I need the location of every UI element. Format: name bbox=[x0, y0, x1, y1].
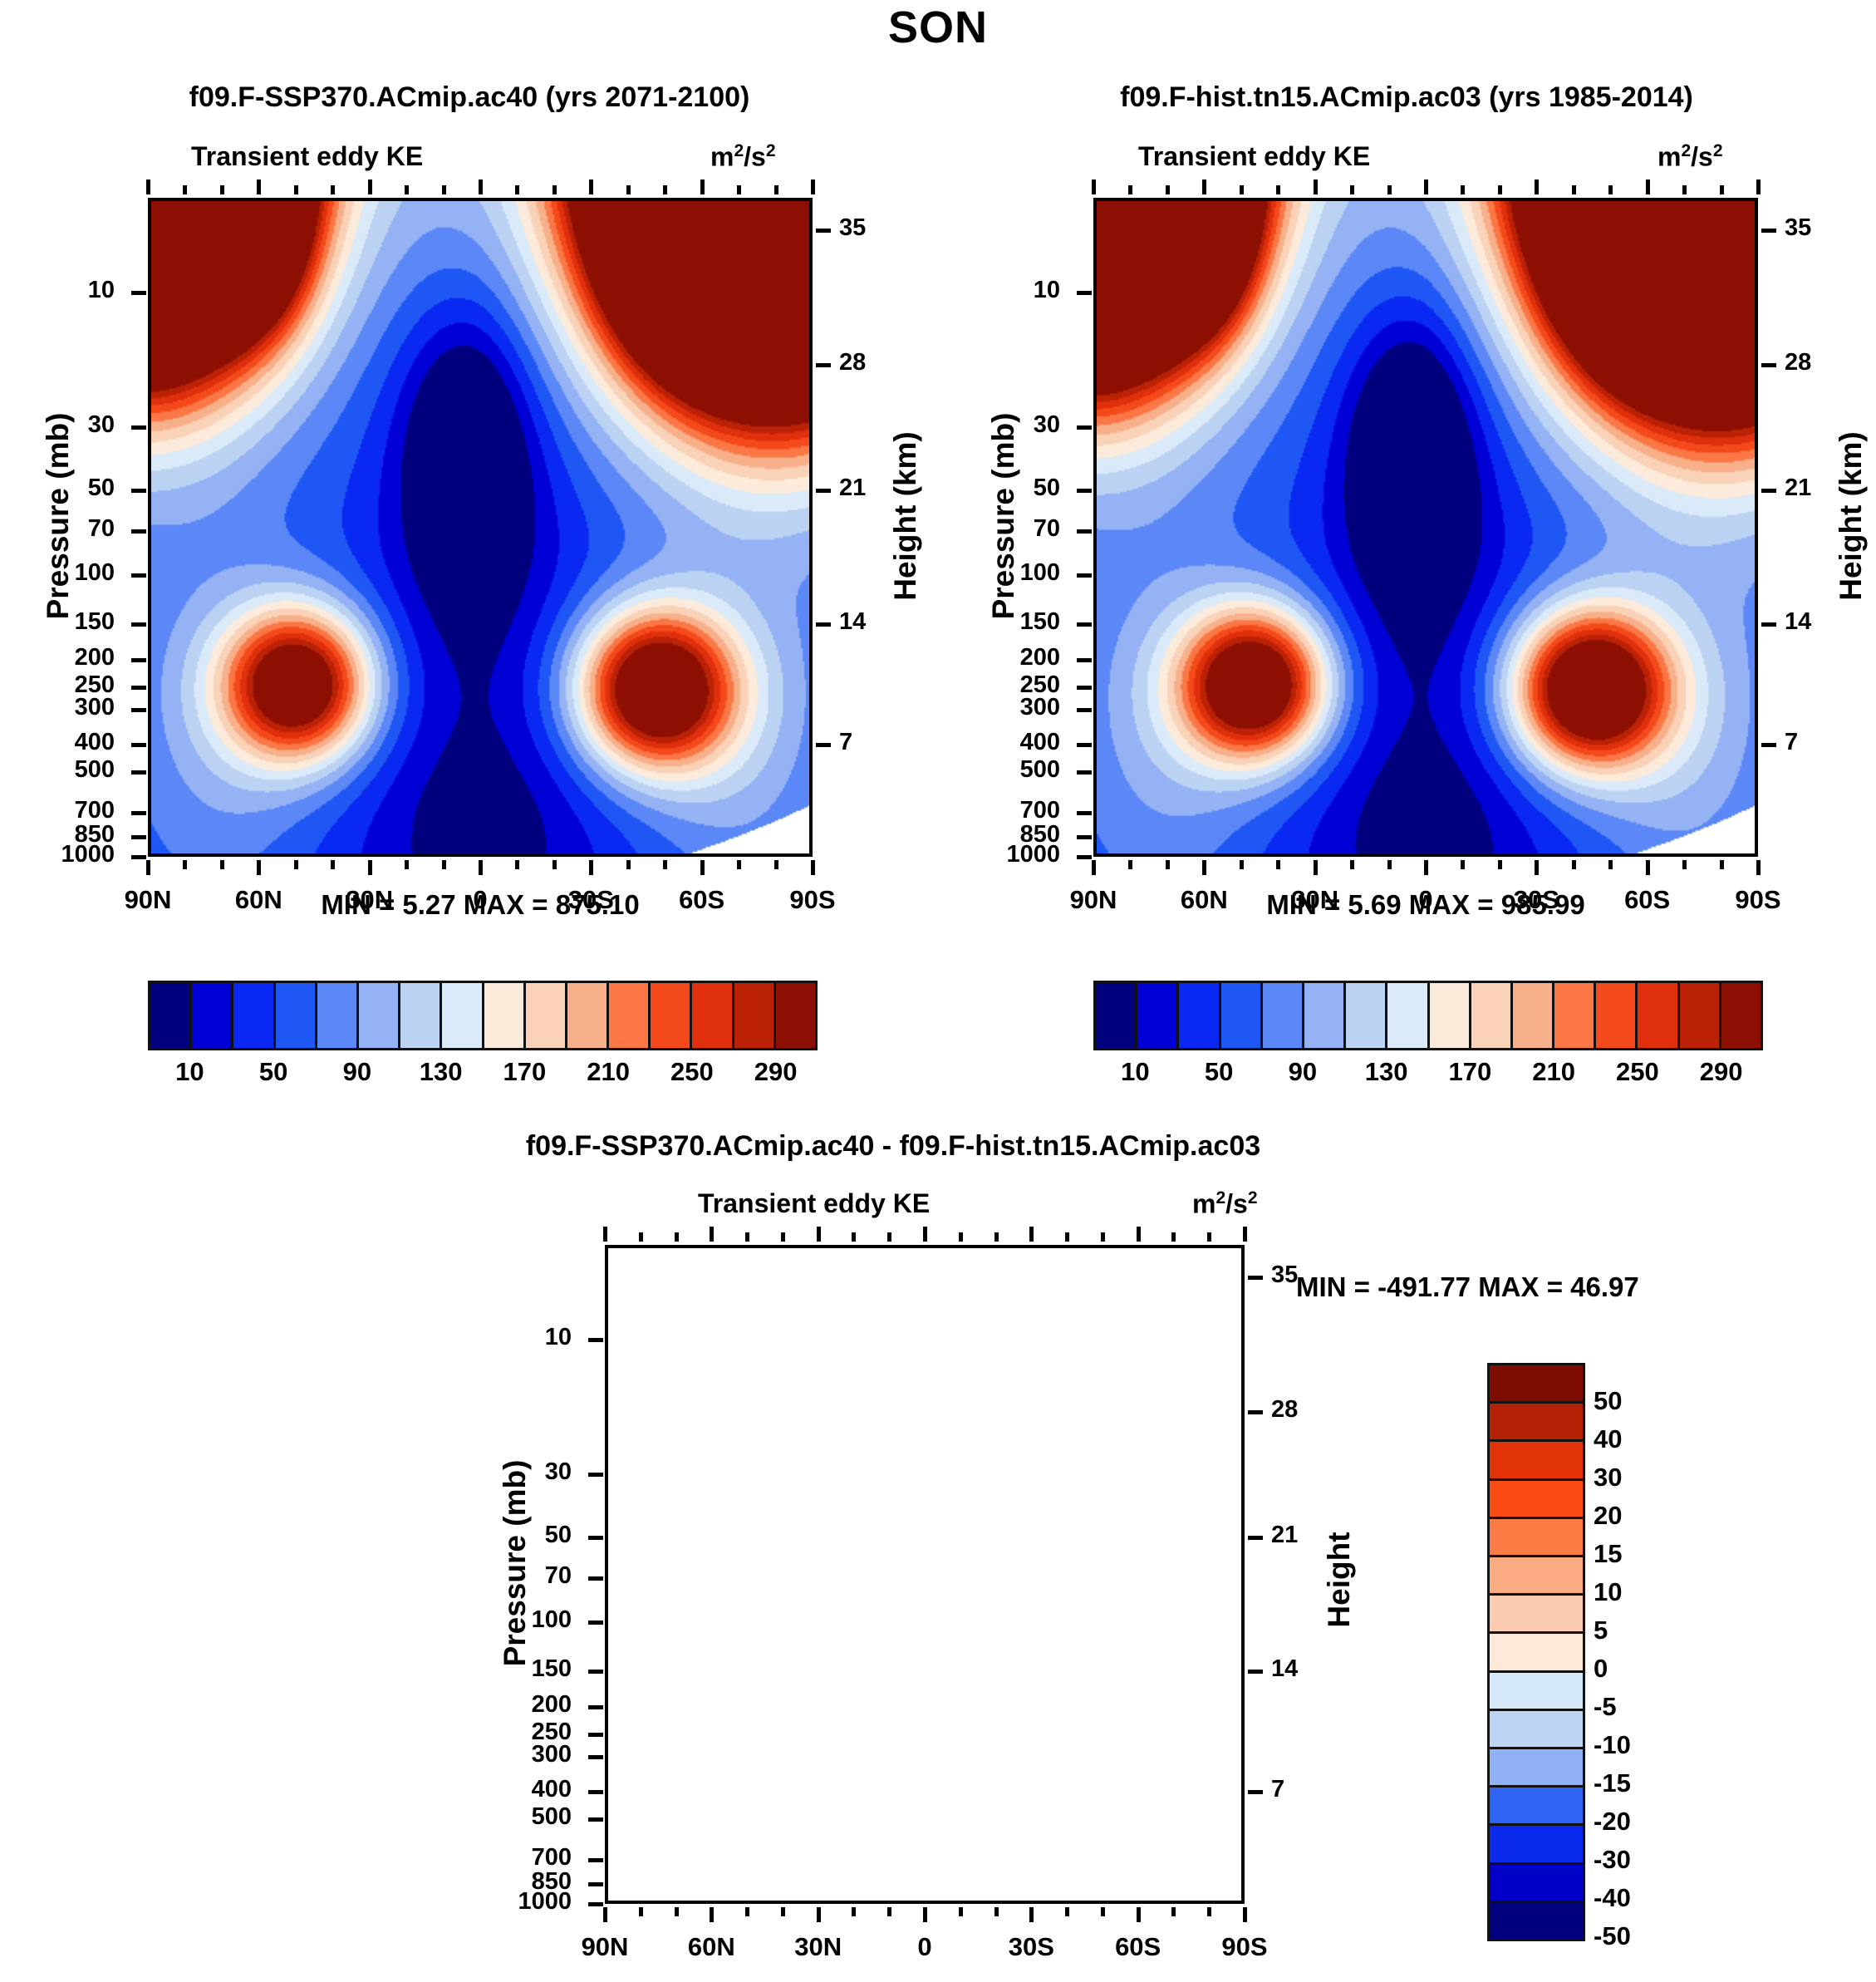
diff-xtick bbox=[1137, 1907, 1141, 1922]
colorbar-cell bbox=[526, 983, 567, 1048]
right-xlabel: 30N bbox=[1257, 885, 1373, 915]
left-xtick bbox=[700, 860, 705, 875]
colorbar-cell bbox=[192, 983, 233, 1048]
right-y2label: 14 bbox=[1785, 608, 1851, 636]
right-xtick-top-minor bbox=[1608, 185, 1613, 194]
diff-xtick-minor bbox=[994, 1907, 999, 1916]
left-xtick-top-minor bbox=[737, 185, 741, 194]
diff-xtick-minor bbox=[1207, 1907, 1211, 1916]
right-xtick-minor bbox=[1720, 860, 1724, 869]
right-xtick-minor bbox=[1240, 860, 1244, 869]
diff-xtick-minor bbox=[887, 1907, 891, 1916]
right-xtick-top-minor bbox=[1350, 185, 1354, 194]
diff-y2label: 7 bbox=[1271, 1776, 1338, 1803]
colorbar-cell bbox=[1638, 983, 1679, 1048]
colorbar-cell bbox=[1490, 1596, 1583, 1634]
right-y2label: 21 bbox=[1785, 475, 1851, 502]
diff-ytick bbox=[588, 1882, 603, 1886]
right-ylabel: 30 bbox=[960, 411, 1060, 439]
right-xtick-top-minor bbox=[1461, 185, 1465, 194]
right-xtick-minor bbox=[1276, 860, 1280, 869]
diff-xtick bbox=[710, 1907, 714, 1922]
left-ytick bbox=[131, 835, 146, 839]
right-xtick-top-minor bbox=[1166, 185, 1170, 194]
left-y2label: 28 bbox=[839, 349, 906, 376]
diff-xtick-top-minor bbox=[639, 1232, 643, 1242]
diff-ylabel: 400 bbox=[472, 1776, 572, 1803]
right-xtick-top bbox=[1535, 180, 1539, 194]
diff-ytick bbox=[588, 1902, 603, 1906]
colorbar-tick-label: 290 bbox=[1700, 1057, 1743, 1087]
left-xtick-top bbox=[589, 180, 593, 194]
colorbar-tick-label: 170 bbox=[1449, 1057, 1492, 1087]
colorbar-cell bbox=[1596, 983, 1638, 1048]
diff-y2label: 35 bbox=[1271, 1261, 1338, 1289]
right-ylabel: 400 bbox=[960, 729, 1060, 756]
contour-field-ssp370 bbox=[151, 201, 809, 853]
left-y2tick bbox=[816, 743, 831, 747]
right-xtick-minor bbox=[1572, 860, 1576, 869]
right-xtick-minor bbox=[1128, 860, 1132, 869]
diff-xtick-minor bbox=[675, 1907, 679, 1916]
left-ytick bbox=[131, 622, 146, 627]
right-xtick bbox=[1756, 860, 1761, 875]
left-xtick-top-minor bbox=[405, 185, 409, 194]
colorbar-tick-label: 20 bbox=[1594, 1501, 1622, 1531]
right-ylabel: 50 bbox=[960, 475, 1060, 502]
right-xtick-minor bbox=[1350, 860, 1354, 869]
left-xlabel: 30N bbox=[312, 885, 428, 915]
right-xtick bbox=[1646, 860, 1650, 875]
diff-ytick bbox=[588, 1858, 603, 1862]
right-xtick-top-minor bbox=[1387, 185, 1392, 194]
colorbar-tick-label: 250 bbox=[670, 1057, 714, 1087]
colorbar-hist[interactable] bbox=[1093, 981, 1763, 1050]
right-xtick-minor bbox=[1461, 860, 1465, 869]
colorbar-cell bbox=[1490, 1903, 1583, 1939]
left-xtick bbox=[811, 860, 815, 875]
left-xtick-top-minor bbox=[663, 185, 667, 194]
right-y2label: 28 bbox=[1785, 349, 1851, 376]
left-ylabel: 50 bbox=[15, 475, 115, 502]
diff-xtick-top-minor bbox=[1171, 1232, 1176, 1242]
right-ytick bbox=[1077, 291, 1092, 295]
colorbar-tick-label: 0 bbox=[1594, 1654, 1608, 1684]
right-ylabel: 100 bbox=[960, 559, 1060, 587]
colorbar-cell bbox=[1490, 1481, 1583, 1519]
right-xtick-top-minor bbox=[1128, 185, 1132, 194]
diff-y2tick bbox=[1248, 1410, 1263, 1414]
units-label-right: m2/s2 bbox=[1657, 141, 1723, 173]
diff-xtick-top-minor bbox=[675, 1232, 679, 1242]
right-xtick-top bbox=[1202, 180, 1206, 194]
colorbar-cell bbox=[233, 983, 275, 1048]
left-xtick-top-minor bbox=[220, 185, 224, 194]
left-xtick-top bbox=[479, 180, 483, 194]
left-xlabel: 0 bbox=[422, 885, 538, 915]
left-ylabel: 200 bbox=[15, 644, 115, 671]
left-xtick-minor bbox=[405, 860, 409, 869]
left-xtick-top-minor bbox=[331, 185, 335, 194]
left-xtick bbox=[368, 860, 372, 875]
contour-field-difference bbox=[608, 1248, 1241, 1901]
right-xtick-minor bbox=[1608, 860, 1613, 869]
left-xtick-minor bbox=[183, 860, 187, 869]
diff-ytick bbox=[588, 1576, 603, 1581]
right-xtick-top-minor bbox=[1240, 185, 1244, 194]
diff-ylabel: 30 bbox=[472, 1458, 572, 1486]
right-xtick-top-minor bbox=[1682, 185, 1687, 194]
colorbar-cell bbox=[359, 983, 400, 1048]
colorbar-cell bbox=[1304, 983, 1346, 1048]
left-xlabel: 60S bbox=[644, 885, 760, 915]
diff-ylabel: 200 bbox=[472, 1691, 572, 1719]
colorbar-cell bbox=[1554, 983, 1596, 1048]
colorbar-tick-label: 90 bbox=[1289, 1057, 1317, 1087]
diff-ytick bbox=[588, 1790, 603, 1794]
right-ylabel: 200 bbox=[960, 644, 1060, 671]
right-ytick bbox=[1077, 686, 1092, 690]
colorbar-tick-label: -10 bbox=[1594, 1730, 1631, 1760]
left-xtick-minor bbox=[774, 860, 778, 869]
left-ytick bbox=[131, 291, 146, 295]
left-ytick bbox=[131, 855, 146, 859]
diff-xtick-minor bbox=[639, 1907, 643, 1916]
colorbar-cell bbox=[400, 983, 442, 1048]
right-ylabel: 150 bbox=[960, 608, 1060, 636]
diff-ytick bbox=[588, 1621, 603, 1625]
colorbar-tick-label: 10 bbox=[1121, 1057, 1149, 1087]
left-xtick-top-minor bbox=[442, 185, 446, 194]
diff-xtick-top bbox=[603, 1227, 607, 1242]
diff-ytick bbox=[588, 1733, 603, 1737]
right-xtick bbox=[1535, 860, 1539, 875]
right-ytick bbox=[1077, 658, 1092, 662]
left-ytick bbox=[131, 489, 146, 493]
left-ylabel: 30 bbox=[15, 411, 115, 439]
colorbar-cell bbox=[276, 983, 317, 1048]
left-xtick-top bbox=[811, 180, 815, 194]
diff-xtick-top-minor bbox=[994, 1232, 999, 1242]
left-y2tick bbox=[816, 363, 831, 367]
diff-xlabel: 30N bbox=[760, 1932, 877, 1962]
diff-xtick-minor bbox=[745, 1907, 749, 1916]
right-y2tick bbox=[1761, 743, 1776, 747]
left-xtick-minor bbox=[220, 860, 224, 869]
colorbar-cell bbox=[1346, 983, 1387, 1048]
diff-xtick-top-minor bbox=[852, 1232, 856, 1242]
y2-axis-title-left: Height (km) bbox=[888, 400, 923, 632]
diff-y2tick bbox=[1248, 1276, 1263, 1280]
panel-title-hist: f09.F-hist.tn15.ACmip.ac03 (yrs 1985-201… bbox=[937, 81, 1876, 114]
diff-ylabel: 1000 bbox=[472, 1888, 572, 1916]
right-ytick bbox=[1077, 835, 1092, 839]
diff-xtick-minor bbox=[959, 1907, 963, 1916]
panel-title-ssp370: f09.F-SSP370.ACmip.ac40 (yrs 2071-2100) bbox=[0, 81, 939, 114]
colorbar-cell bbox=[1490, 1404, 1583, 1442]
right-xlabel: 60N bbox=[1146, 885, 1262, 915]
colorbar-tick-label: 250 bbox=[1616, 1057, 1659, 1087]
diff-xtick-minor bbox=[1065, 1907, 1069, 1916]
diff-y2label: 14 bbox=[1271, 1655, 1338, 1683]
diff-ytick bbox=[588, 1755, 603, 1759]
y2-axis-title-right: Height (km) bbox=[1834, 400, 1869, 632]
left-xtick-top-minor bbox=[774, 185, 778, 194]
right-xtick-top-minor bbox=[1720, 185, 1724, 194]
colorbar-tick-label: -15 bbox=[1594, 1768, 1631, 1798]
diff-xtick-top-minor bbox=[745, 1232, 749, 1242]
colorbar-tick-label: 50 bbox=[259, 1057, 287, 1087]
right-xtick-top bbox=[1424, 180, 1428, 194]
diff-y2tick bbox=[1248, 1790, 1263, 1794]
left-xtick-top bbox=[257, 180, 261, 194]
left-y2label: 14 bbox=[839, 608, 906, 636]
colorbar-ssp370[interactable] bbox=[148, 981, 818, 1050]
right-ylabel: 300 bbox=[960, 694, 1060, 721]
diff-xtick-top-minor bbox=[1065, 1232, 1069, 1242]
diff-xtick bbox=[923, 1907, 927, 1922]
colorbar-tick-label: 5 bbox=[1594, 1616, 1608, 1645]
right-ytick bbox=[1077, 425, 1092, 430]
colorbar-cell bbox=[776, 983, 815, 1048]
colorbar-cell bbox=[1680, 983, 1721, 1048]
left-ylabel: 400 bbox=[15, 729, 115, 756]
left-xtick-minor bbox=[737, 860, 741, 869]
plot-area-difference[interactable] bbox=[605, 1245, 1245, 1904]
left-xtick-minor bbox=[663, 860, 667, 869]
right-xtick-top-minor bbox=[1572, 185, 1576, 194]
colorbar-labels-difference: 50403020151050-5-10-15-20-30-40-50 bbox=[1594, 1363, 1693, 1936]
colorbar-cell bbox=[1490, 1442, 1583, 1480]
left-xlabel: 90S bbox=[754, 885, 871, 915]
left-xtick-minor bbox=[294, 860, 298, 869]
diff-ylabel: 300 bbox=[472, 1741, 572, 1768]
colorbar-tick-label: 50 bbox=[1594, 1386, 1622, 1416]
colorbar-cell bbox=[1471, 983, 1513, 1048]
units-label-diff: m2/s2 bbox=[1192, 1188, 1258, 1220]
variable-label-left: Transient eddy KE bbox=[191, 141, 423, 172]
left-xtick-minor bbox=[626, 860, 631, 869]
diff-xtick bbox=[1029, 1907, 1034, 1922]
left-xtick bbox=[589, 860, 593, 875]
colorbar-tick-label: 170 bbox=[503, 1057, 547, 1087]
colorbar-cell bbox=[609, 983, 651, 1048]
colorbar-cell bbox=[692, 983, 734, 1048]
colorbar-tick-label: 15 bbox=[1594, 1539, 1622, 1569]
right-xtick bbox=[1424, 860, 1428, 875]
left-xtick-top-minor bbox=[626, 185, 631, 194]
right-xlabel: 60S bbox=[1589, 885, 1706, 915]
diff-y2label: 21 bbox=[1271, 1522, 1338, 1549]
diff-xtick-top bbox=[923, 1227, 927, 1242]
right-y2tick bbox=[1761, 363, 1776, 367]
colorbar-tick-label: 210 bbox=[587, 1057, 630, 1087]
left-ytick bbox=[131, 658, 146, 662]
colorbar-cell bbox=[150, 983, 192, 1048]
left-xtick-top-minor bbox=[515, 185, 519, 194]
left-xtick-top bbox=[146, 180, 150, 194]
diff-xtick-top-minor bbox=[781, 1232, 785, 1242]
left-xtick-minor bbox=[552, 860, 557, 869]
figure-root: SON f09.F-SSP370.ACmip.ac40 (yrs 2071-21… bbox=[0, 0, 1876, 1982]
right-y2tick bbox=[1761, 489, 1776, 493]
right-xtick bbox=[1314, 860, 1318, 875]
colorbar-cell bbox=[1096, 983, 1137, 1048]
left-xtick bbox=[257, 860, 261, 875]
colorbar-tick-label: 50 bbox=[1205, 1057, 1233, 1087]
colorbar-labels-hist: 105090130170210250290 bbox=[1093, 1057, 1758, 1090]
left-ytick bbox=[131, 529, 146, 534]
left-ylabel: 500 bbox=[15, 756, 115, 784]
colorbar-cell bbox=[1263, 983, 1304, 1048]
right-ylabel: 1000 bbox=[960, 841, 1060, 868]
right-ylabel: 70 bbox=[960, 515, 1060, 543]
right-xlabel: 90N bbox=[1035, 885, 1152, 915]
colorbar-tick-label: 210 bbox=[1532, 1057, 1575, 1087]
plot-area-ssp370[interactable] bbox=[148, 198, 813, 857]
diff-xtick-minor bbox=[852, 1907, 856, 1916]
left-ytick bbox=[131, 686, 146, 690]
diff-ytick bbox=[588, 1473, 603, 1477]
right-xtick-top bbox=[1646, 180, 1650, 194]
left-y2tick bbox=[816, 622, 831, 627]
diff-xtick-top-minor bbox=[887, 1232, 891, 1242]
colorbar-cell bbox=[1387, 983, 1429, 1048]
diff-ylabel: 100 bbox=[472, 1606, 572, 1634]
colorbar-cell bbox=[567, 983, 609, 1048]
diff-ytick bbox=[588, 1536, 603, 1540]
diff-xtick-top-minor bbox=[1101, 1232, 1105, 1242]
diff-xtick-top bbox=[1029, 1227, 1034, 1242]
diff-xtick bbox=[603, 1907, 607, 1922]
colorbar-cell bbox=[1490, 1365, 1583, 1404]
diff-xtick-minor bbox=[1101, 1907, 1105, 1916]
left-ytick bbox=[131, 770, 146, 775]
left-xtick-top bbox=[368, 180, 372, 194]
colorbar-cell bbox=[1490, 1788, 1583, 1826]
diff-xtick bbox=[817, 1907, 821, 1922]
diff-xlabel: 90N bbox=[547, 1932, 663, 1962]
right-ytick bbox=[1077, 489, 1092, 493]
season-title: SON bbox=[0, 2, 1876, 53]
colorbar-cell bbox=[1490, 1557, 1583, 1596]
right-y2label: 7 bbox=[1785, 729, 1851, 756]
right-y2label: 35 bbox=[1785, 214, 1851, 242]
colorbar-cell bbox=[442, 983, 484, 1048]
diff-ylabel: 500 bbox=[472, 1803, 572, 1831]
right-ytick bbox=[1077, 770, 1092, 775]
plot-area-hist[interactable] bbox=[1093, 198, 1758, 857]
left-ylabel: 300 bbox=[15, 694, 115, 721]
right-xtick bbox=[1202, 860, 1206, 875]
colorbar-labels-ssp370: 105090130170210250290 bbox=[148, 1057, 813, 1090]
left-ylabel: 70 bbox=[15, 515, 115, 543]
left-ytick bbox=[131, 708, 146, 712]
diff-ytick bbox=[588, 1817, 603, 1822]
right-xlabel: 0 bbox=[1368, 885, 1484, 915]
left-ytick bbox=[131, 573, 146, 578]
colorbar-cell bbox=[1490, 1749, 1583, 1788]
colorbar-difference[interactable] bbox=[1487, 1363, 1585, 1941]
right-xtick-top bbox=[1756, 180, 1761, 194]
left-ytick bbox=[131, 425, 146, 430]
colorbar-cell bbox=[1490, 1634, 1583, 1672]
colorbar-tick-label: 30 bbox=[1594, 1463, 1622, 1493]
diff-xlabel: 0 bbox=[867, 1932, 983, 1962]
colorbar-cell bbox=[484, 983, 526, 1048]
diff-ytick bbox=[588, 1705, 603, 1709]
left-xtick-top-minor bbox=[183, 185, 187, 194]
left-xlabel: 30S bbox=[533, 885, 649, 915]
left-xtick-minor bbox=[442, 860, 446, 869]
right-y2tick bbox=[1761, 229, 1776, 233]
colorbar-cell bbox=[1490, 1865, 1583, 1903]
right-ylabel: 10 bbox=[960, 277, 1060, 304]
left-y2label: 21 bbox=[839, 475, 906, 502]
colorbar-cell bbox=[1221, 983, 1263, 1048]
left-ylabel: 100 bbox=[15, 559, 115, 587]
right-xtick bbox=[1092, 860, 1096, 875]
diff-ylabel: 50 bbox=[472, 1522, 572, 1549]
right-ytick bbox=[1077, 573, 1092, 578]
colorbar-tick-label: 10 bbox=[175, 1057, 204, 1087]
diff-ylabel: 70 bbox=[472, 1562, 572, 1590]
right-ytick bbox=[1077, 708, 1092, 712]
colorbar-tick-label: 290 bbox=[754, 1057, 798, 1087]
left-y2label: 35 bbox=[839, 214, 906, 242]
left-ytick bbox=[131, 743, 146, 747]
diff-ytick bbox=[588, 1338, 603, 1342]
colorbar-cell bbox=[1490, 1519, 1583, 1557]
left-xlabel: 60N bbox=[200, 885, 317, 915]
right-xtick-top-minor bbox=[1498, 185, 1502, 194]
diff-xtick-minor bbox=[781, 1907, 785, 1916]
diff-ylabel: 150 bbox=[472, 1655, 572, 1683]
right-ytick bbox=[1077, 855, 1092, 859]
colorbar-cell bbox=[1430, 983, 1471, 1048]
colorbar-tick-label: -40 bbox=[1594, 1883, 1631, 1913]
left-xtick-minor bbox=[515, 860, 519, 869]
left-y2tick bbox=[816, 229, 831, 233]
right-xtick-top bbox=[1314, 180, 1318, 194]
colorbar-cell bbox=[1490, 1826, 1583, 1864]
right-xtick-minor bbox=[1166, 860, 1170, 869]
colorbar-cell bbox=[1137, 983, 1179, 1048]
diff-xtick-top bbox=[710, 1227, 714, 1242]
colorbar-tick-label: 90 bbox=[343, 1057, 371, 1087]
left-y2tick bbox=[816, 489, 831, 493]
left-y2label: 7 bbox=[839, 729, 906, 756]
diff-xtick bbox=[1243, 1907, 1247, 1922]
contour-field-hist bbox=[1097, 201, 1755, 853]
colorbar-cell bbox=[651, 983, 692, 1048]
left-ylabel: 10 bbox=[15, 277, 115, 304]
right-xtick-minor bbox=[1682, 860, 1687, 869]
diff-ytick bbox=[588, 1670, 603, 1674]
colorbar-cell bbox=[1721, 983, 1761, 1048]
colorbar-cell bbox=[317, 983, 359, 1048]
diff-xlabel: 60N bbox=[653, 1932, 769, 1962]
diff-y2label: 28 bbox=[1271, 1396, 1338, 1424]
right-xlabel: 30S bbox=[1478, 885, 1594, 915]
right-ylabel: 500 bbox=[960, 756, 1060, 784]
diff-xtick-top bbox=[1137, 1227, 1141, 1242]
left-xtick-minor bbox=[331, 860, 335, 869]
colorbar-cell bbox=[1490, 1711, 1583, 1749]
left-ylabel: 1000 bbox=[15, 841, 115, 868]
left-xtick-top bbox=[700, 180, 705, 194]
minmax-difference: MIN = -491.77 MAX = 46.97 bbox=[1296, 1271, 1795, 1303]
